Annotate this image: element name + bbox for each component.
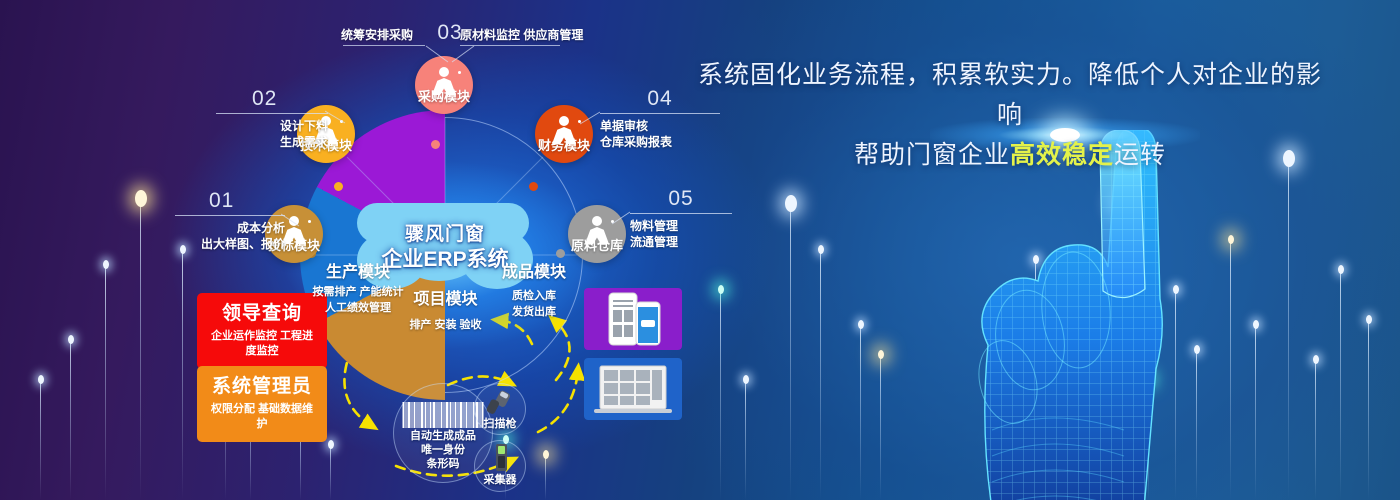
headline-highlight: 高效稳定 xyxy=(1010,141,1114,169)
scanner-label: 扫描枪 xyxy=(475,417,525,431)
data-collector-icon xyxy=(475,444,527,474)
ring-dot-purchasing xyxy=(431,140,440,149)
light-stick xyxy=(545,455,546,500)
callout-number-02: 02 xyxy=(216,88,328,110)
collector-label: 采集器 xyxy=(475,473,525,487)
light-stick xyxy=(1340,270,1341,500)
light-stick xyxy=(70,340,71,500)
barcode-caption-1: 自动生成成品 xyxy=(394,429,492,443)
ring-dot-finance xyxy=(529,182,538,191)
light-stick xyxy=(1255,325,1256,500)
light-stick xyxy=(820,250,821,500)
headline-line-2: 帮助门窗企业高效稳定运转 xyxy=(690,135,1330,175)
button-system-admin-title: 系统管理员 xyxy=(207,375,317,399)
callout-02: 02 设计下料 生成需求 xyxy=(216,88,328,150)
callout-number-05: 05 xyxy=(630,188,732,210)
light-stick xyxy=(1368,320,1369,500)
button-system-admin[interactable]: 系统管理员 权限分配 基础数据维护 xyxy=(197,366,327,442)
light-stick xyxy=(1288,155,1289,500)
barcode-scanner-icon xyxy=(475,388,527,418)
callout-01: 01 成本分析 出大样图、报价 xyxy=(175,190,285,252)
light-stick xyxy=(860,325,861,500)
button-system-admin-sub: 权限分配 基础数据维护 xyxy=(207,402,317,432)
laptop-device-icon xyxy=(584,358,682,420)
hand-wireframe-svg xyxy=(880,130,1240,500)
light-stick xyxy=(790,200,791,500)
callout-04-leader xyxy=(578,110,602,128)
callout-03-right-text: 原材料监控 供应商管理 xyxy=(460,27,583,43)
barcode-icon xyxy=(403,402,484,428)
sparkle-icon xyxy=(458,71,461,74)
light-stick xyxy=(182,250,183,500)
person-icon xyxy=(551,116,577,144)
light-stick xyxy=(330,445,331,500)
light-stick xyxy=(745,380,746,500)
scanner-bubble[interactable]: 扫描枪 xyxy=(474,383,526,435)
headline-line-2-post: 运转 xyxy=(1114,141,1166,169)
wireframe-hand-illustration xyxy=(880,130,1240,500)
hero-banner: 骤风门窗 企业ERP系统 生产模块 按需排产 产能统计 人工绩效管理 项目模块 … xyxy=(0,0,1400,500)
ring-dot-technical xyxy=(334,182,343,191)
light-stick xyxy=(720,290,721,500)
light-stick xyxy=(1315,360,1316,500)
button-leader-query-sub: 企业运作监控 工程进度监控 xyxy=(207,329,317,359)
headline-line-2-pre: 帮助门窗企业 xyxy=(854,141,1010,169)
desktop-screenshot-card[interactable] xyxy=(584,358,682,420)
callout-03-leader xyxy=(420,44,480,64)
callout-03-left-text: 统筹安排采购 xyxy=(341,27,413,43)
collector-bubble[interactable]: 采集器 xyxy=(474,440,526,492)
callout-02-leader xyxy=(325,109,347,127)
person-icon xyxy=(431,67,457,95)
light-stick xyxy=(140,195,141,500)
callout-03-rule-left xyxy=(343,45,425,46)
sparkle-icon xyxy=(308,220,311,223)
callout-number-01: 01 xyxy=(175,190,285,212)
headline-block: 系统固化业务流程，积累软实力。降低个人对企业的影响 帮助门窗企业高效稳定运转 xyxy=(690,55,1330,175)
callout-05-leader xyxy=(610,210,632,228)
callout-05: 05 物料管理 流通管理 xyxy=(630,188,732,250)
ring-dot-warehouse xyxy=(556,249,565,258)
callout-01-leader xyxy=(281,212,301,230)
brand-name-line1: 骤风门窗 xyxy=(357,223,533,247)
headline-line-1: 系统固化业务流程，积累软实力。降低个人对企业的影响 xyxy=(690,55,1330,135)
light-stick xyxy=(105,265,106,500)
wedge-label-finished: 成品模块 质检入库 发货出库 xyxy=(465,263,603,319)
person-icon xyxy=(584,216,610,244)
module-node-purchasing[interactable]: 采购模块 xyxy=(415,56,473,114)
light-stick xyxy=(40,380,41,500)
